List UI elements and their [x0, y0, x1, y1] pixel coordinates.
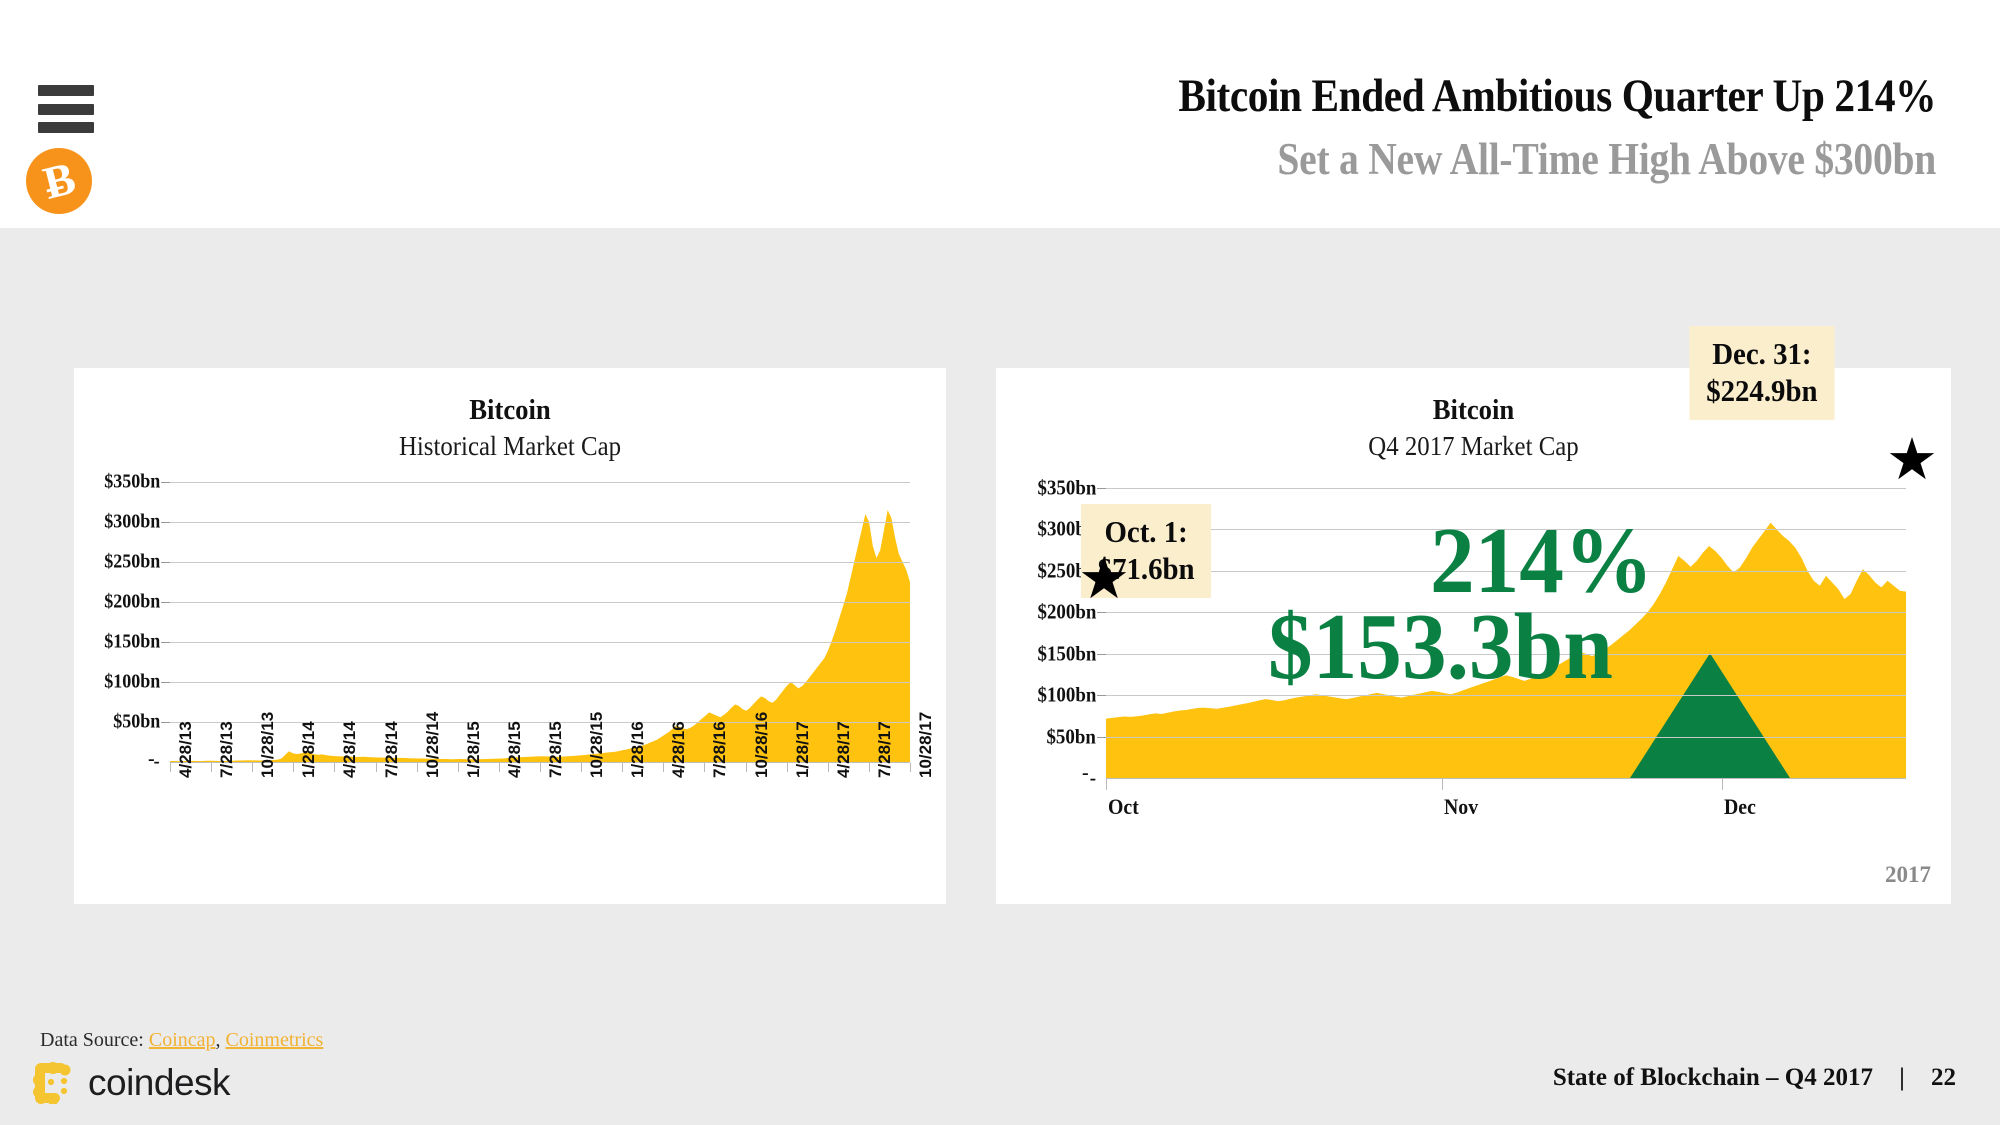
x-axis-label: 1/28/14 [299, 721, 319, 778]
coindesk-dots-icon [32, 1062, 74, 1104]
y-axis-label: $200bn [104, 591, 160, 614]
x-tickmark [499, 763, 500, 772]
gridline [1106, 737, 1906, 738]
x-axis-label: 1/28/16 [628, 721, 648, 778]
x-tickmark [376, 763, 377, 772]
x-tickmark [787, 763, 788, 772]
data-source-link-coinmetrics[interactable]: Coinmetrics [226, 1029, 324, 1051]
coindesk-mark-icon [32, 1062, 74, 1104]
x-axis-label: 4/28/15 [505, 721, 525, 778]
y-axis-label: $150bn [104, 631, 160, 654]
y-axis-label: $100bn [104, 671, 160, 694]
star-marker-end: ★ [1886, 431, 1938, 489]
chart-subtitle-q4: Q4 2017 Market Cap [1034, 431, 1913, 462]
hamburger-icon[interactable] [38, 85, 94, 133]
data-source: Data Source: Coincap, Coinmetrics [40, 1029, 323, 1052]
x-tickmark [540, 763, 541, 772]
x-axis-label: 1/28/17 [793, 721, 813, 778]
x-tickmark [1106, 779, 1107, 790]
x-axis-label: 7/28/15 [546, 721, 566, 778]
chart-subtitle-historical: Historical Market Cap [109, 431, 911, 462]
x-tickmark [252, 763, 253, 772]
x-axis-label: Nov [1444, 794, 1478, 820]
callout-dec-line1: Dec. 31: [1706, 335, 1817, 372]
chart-panel-q4: Bitcoin Q4 2017 Market Cap $350bn$300bn$… [996, 368, 1951, 904]
star-marker-start: ★ [1078, 550, 1130, 608]
callout-dec-31: Dec. 31: $224.9bn [1689, 326, 1834, 420]
x-tickmark [746, 763, 747, 772]
x-axis-label: Oct [1108, 794, 1139, 820]
y-tickmark [161, 562, 170, 563]
y-tickmark [1097, 737, 1106, 738]
x-tickmark [581, 763, 582, 772]
gridline [170, 642, 910, 643]
x-axis-label: 10/28/17 [916, 712, 936, 778]
x-axis-label: 10/28/15 [587, 712, 607, 778]
x-tickmark [828, 763, 829, 772]
x-tickmark [293, 763, 294, 772]
x-tickmark [211, 763, 212, 772]
x-axis-label: 4/28/16 [669, 721, 689, 778]
abs-change-label: $153.3bn [1268, 600, 1613, 694]
chart-title-historical: Bitcoin [109, 394, 911, 427]
x-axis-label: 7/28/16 [710, 721, 730, 778]
x-axis-label: Dec [1724, 794, 1756, 820]
bitcoin-logo-icon: Ƀ [26, 148, 92, 214]
page-subtitle: Set a New All-Time High Above $300bn [1178, 136, 1936, 184]
x-axis-label: 4/28/13 [176, 721, 196, 778]
y-tickmark [161, 482, 170, 483]
hamburger-bar-3 [38, 122, 94, 133]
y-tickmark [161, 682, 170, 683]
y-tickmark [1097, 654, 1106, 655]
hamburger-bar-1 [38, 85, 94, 96]
gridline [170, 522, 910, 523]
x-tickmark [1442, 779, 1443, 790]
gridline [170, 682, 910, 683]
x-tickmark [869, 763, 870, 772]
gridline [170, 562, 910, 563]
source-comma: , [216, 1029, 221, 1051]
y-tickmark [161, 722, 170, 723]
axis-baseline [1106, 778, 1906, 779]
data-source-label: Data Source: [40, 1029, 144, 1051]
pct-change-label: 214% [1430, 514, 1653, 608]
page-number: 22 [1931, 1064, 1956, 1091]
x-axis-label: 4/28/17 [834, 721, 854, 778]
x-tickmark [663, 763, 664, 772]
zero-tick-dash: - [148, 748, 155, 771]
x-axis-label: 7/28/17 [875, 721, 895, 778]
page-title: Bitcoin Ended Ambitious Quarter Up 214% [1178, 72, 1936, 122]
area-chart-historical [170, 482, 910, 762]
y-tickmark [161, 602, 170, 603]
gridline [1106, 488, 1906, 489]
x-tickmark [622, 763, 623, 772]
y-axis-label: $250bn [104, 551, 160, 574]
gridline [170, 482, 910, 483]
data-source-link-coincap[interactable]: Coincap [149, 1029, 216, 1051]
bitcoin-glyph: Ƀ [39, 155, 79, 207]
year-label-2017: 2017 [1885, 862, 1931, 888]
y-axis-label: $50bn [1047, 724, 1096, 749]
hamburger-bar-2 [38, 104, 94, 115]
x-tickmark [170, 763, 171, 772]
y-tickmark [161, 522, 170, 523]
y-tickmark [161, 642, 170, 643]
header-title-block: Bitcoin Ended Ambitious Quarter Up 214% … [1075, 72, 1936, 184]
x-tickmark [910, 763, 911, 772]
x-axis-label: 10/28/16 [752, 712, 772, 778]
coindesk-wordmark: coindesk [88, 1062, 230, 1104]
footer-separator: | [1899, 1064, 1905, 1091]
plot-area-historical: $350bn$300bn$250bn$200bn$150bn$100bn$50b… [170, 482, 910, 762]
page-header: Ƀ Bitcoin Ended Ambitious Quarter Up 214… [0, 0, 2000, 228]
x-axis-label: 7/28/13 [217, 721, 237, 778]
y-axis-label: $350bn [104, 471, 160, 494]
zero-tick-dash: - [1082, 762, 1089, 785]
coindesk-logo[interactable]: coindesk [32, 1062, 230, 1104]
y-tickmark [1097, 695, 1106, 696]
x-axis-label: 4/28/14 [340, 721, 360, 778]
y-axis-label: $100bn [1037, 683, 1096, 708]
y-axis-label: - [154, 751, 160, 774]
callout-dec-line2: $224.9bn [1706, 372, 1817, 409]
x-tickmark [458, 763, 459, 772]
callout-oct-line1: Oct. 1: [1098, 513, 1195, 550]
y-tickmark [1097, 488, 1106, 489]
footer-deck-info: State of Blockchain – Q4 2017 | 22 [1553, 1064, 1956, 1092]
x-tickmark [334, 763, 335, 772]
x-tickmark [704, 763, 705, 772]
y-tickmark [1097, 612, 1106, 613]
deck-title: State of Blockchain – Q4 2017 [1553, 1064, 1873, 1091]
y-axis-label: $50bn [113, 711, 160, 734]
y-axis-label: $150bn [1037, 641, 1096, 666]
chart-panel-historical: Bitcoin Historical Market Cap $350bn$300… [74, 368, 946, 904]
y-axis-label: $350bn [1037, 476, 1096, 501]
x-axis-label: 10/28/14 [423, 712, 443, 778]
y-axis-label: $300bn [104, 511, 160, 534]
gridline [170, 602, 910, 603]
x-axis-label: 7/28/14 [382, 721, 402, 778]
x-tickmark [417, 763, 418, 772]
x-axis-label: 1/28/15 [464, 721, 484, 778]
y-axis-label: - [1090, 766, 1096, 791]
x-axis-label: 10/28/13 [258, 712, 278, 778]
x-tickmark [1722, 779, 1723, 790]
